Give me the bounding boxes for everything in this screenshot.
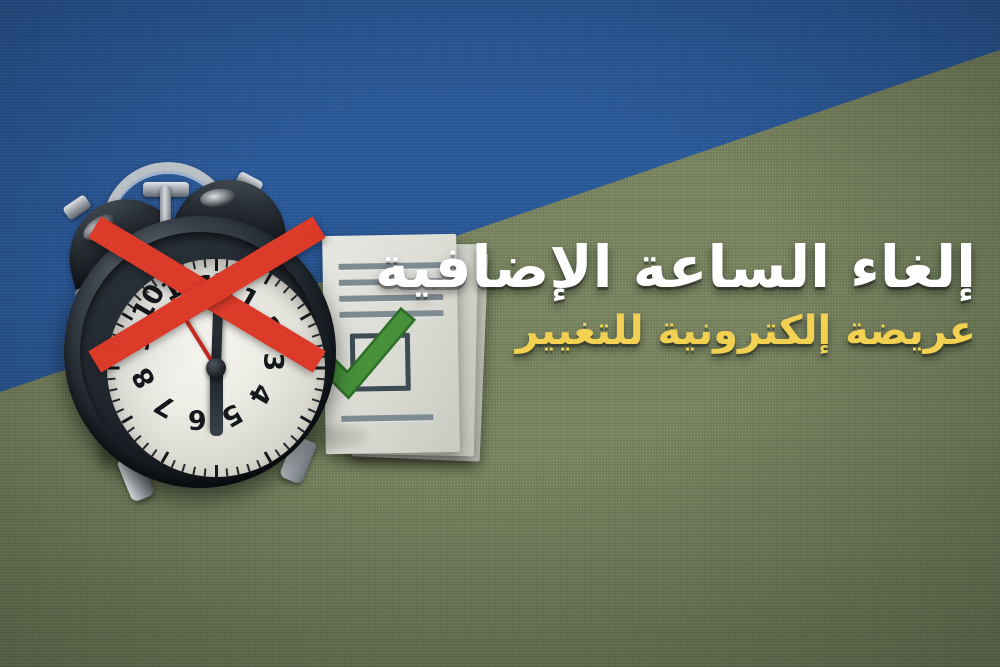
page-title: إلغاء الساعة الإضافية: [416, 236, 976, 299]
clock-case: 121234567891011: [64, 216, 336, 488]
clock-bezel: 121234567891011: [80, 232, 320, 472]
banner-canvas: 121234567891011 إلغاء الساعة الإضافية عر…: [0, 0, 1000, 667]
page-subtitle: عريضة إلكترونية للتغيير: [416, 309, 976, 353]
alarm-clock: 121234567891011: [38, 138, 368, 498]
banner-text-block: إلغاء الساعة الإضافية عريضة إلكترونية لل…: [416, 236, 976, 353]
clock-dial: 121234567891011: [107, 259, 325, 477]
